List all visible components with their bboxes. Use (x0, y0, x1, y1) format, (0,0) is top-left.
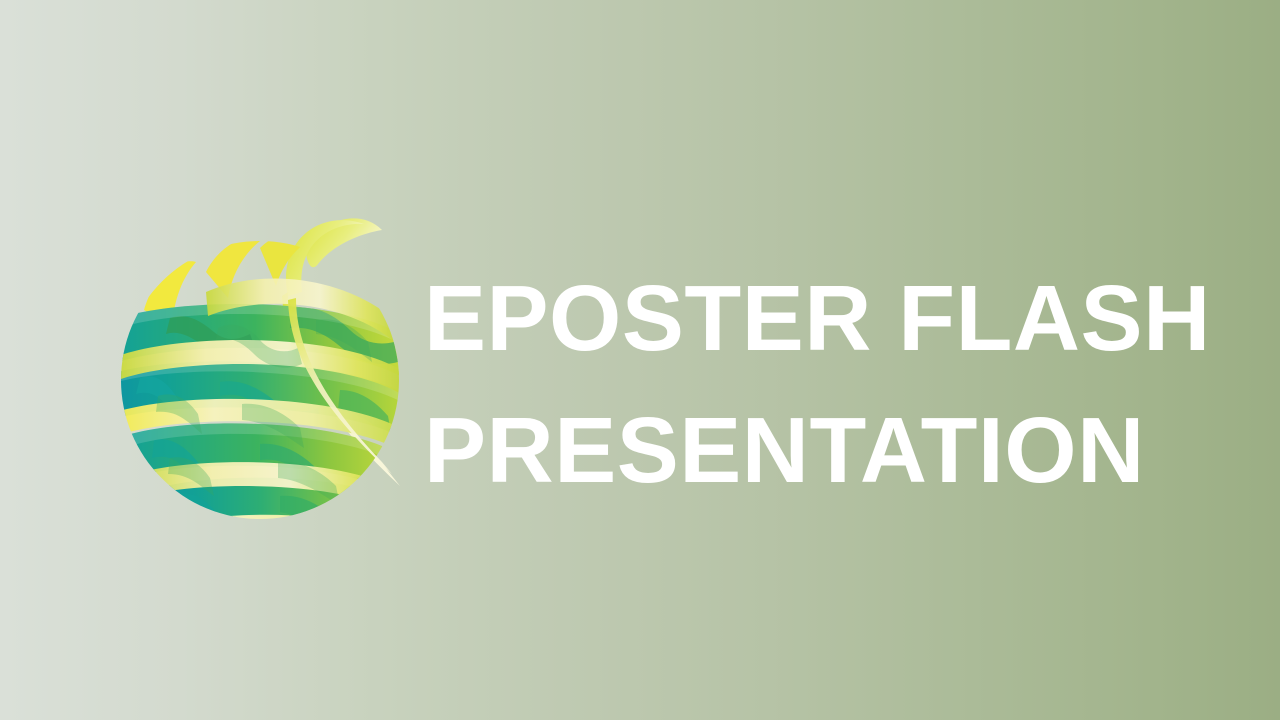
presentation-slide: EPOSTER FLASH PRESENTATION (0, 0, 1280, 720)
globe-ribbons (110, 231, 416, 520)
globe-ribbon-leaf-logo (110, 200, 420, 520)
page-title-line2: PRESENTATION (424, 384, 1214, 516)
page-title-line1: EPOSTER FLASH (424, 252, 1214, 384)
title-block: EPOSTER FLASH PRESENTATION (424, 252, 1214, 516)
